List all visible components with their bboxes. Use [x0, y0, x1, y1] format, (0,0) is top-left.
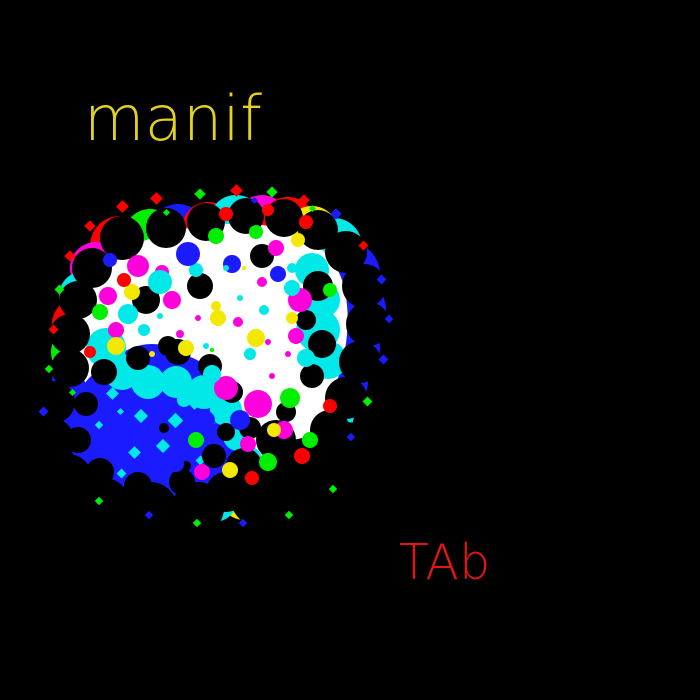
album-cover: manif TAb: [0, 0, 700, 700]
album-title: TAb: [399, 538, 491, 587]
artist-name: manif: [84, 88, 262, 150]
